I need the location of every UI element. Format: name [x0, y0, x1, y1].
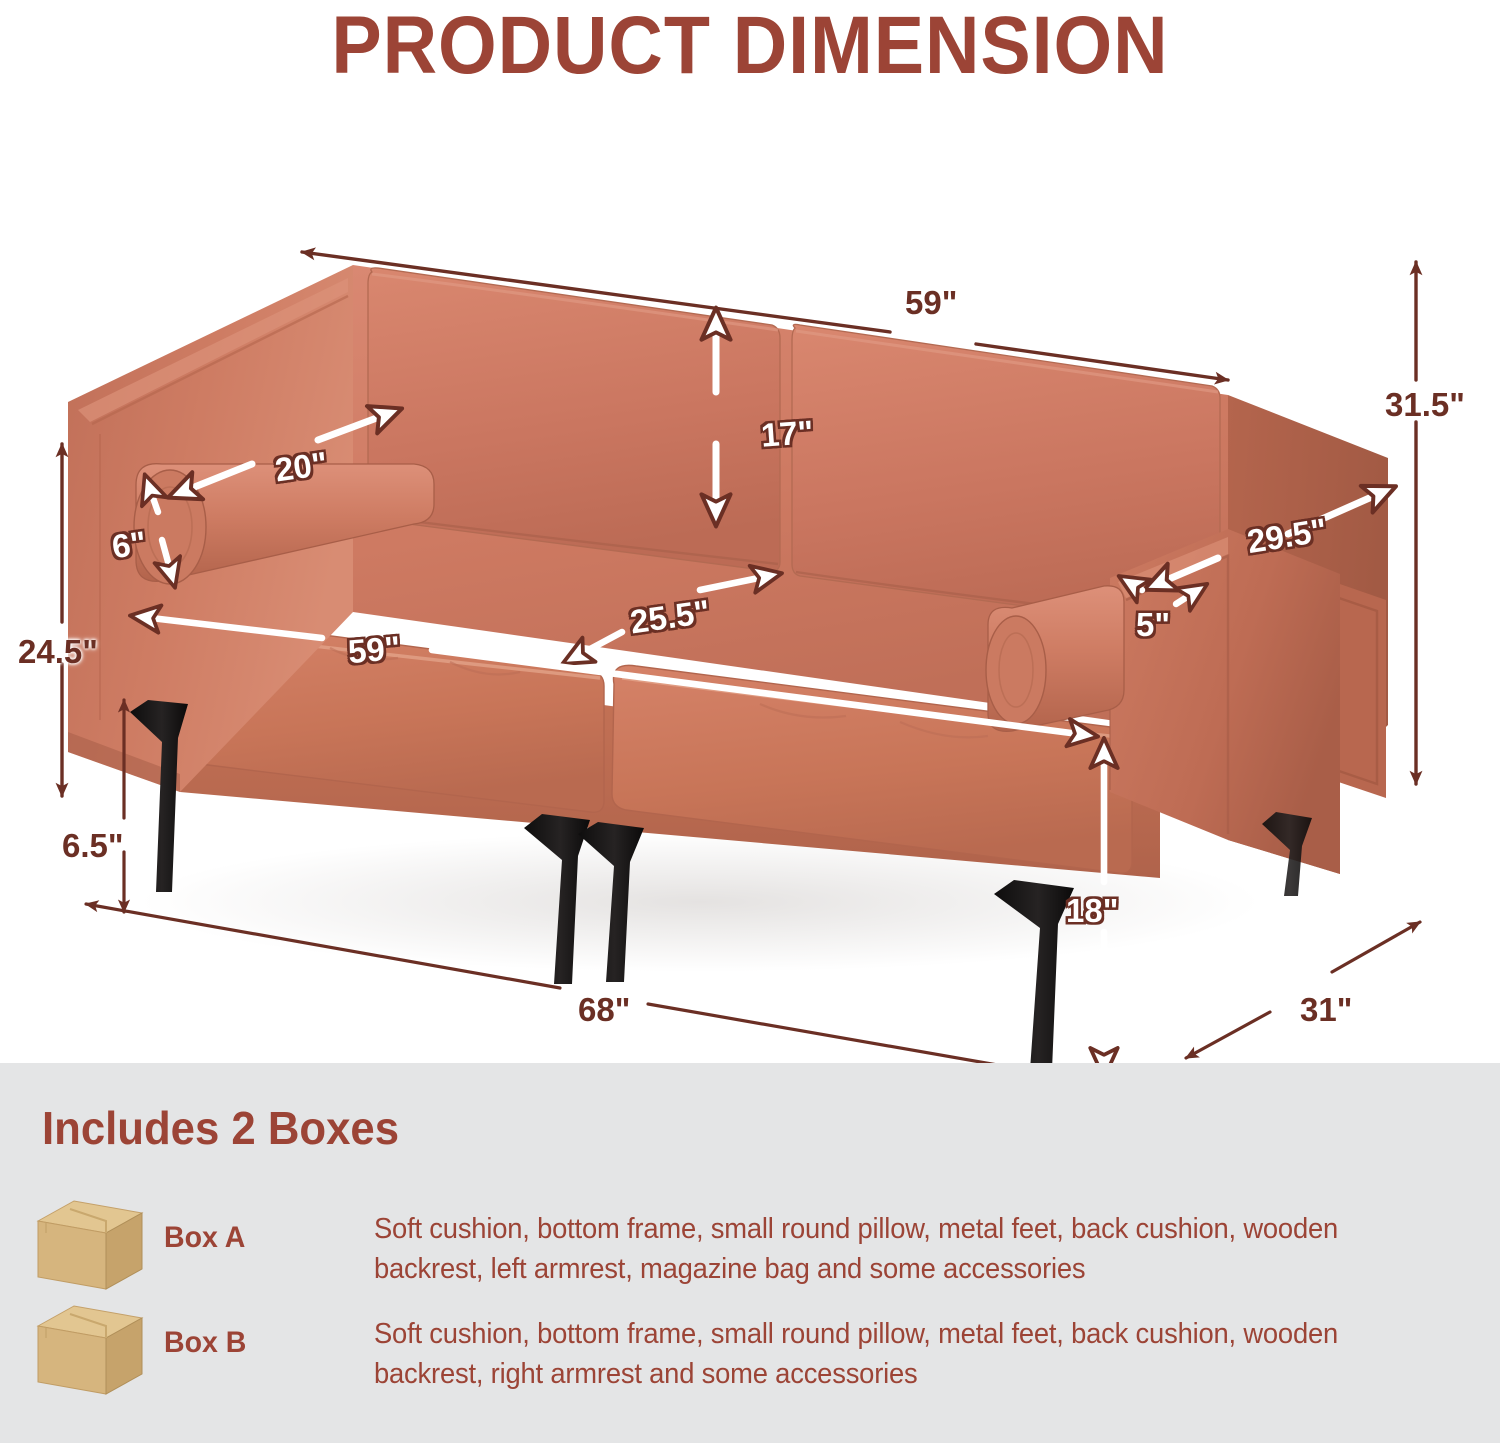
arrow-overall-depth	[1186, 922, 1420, 1058]
product-dimension-page: PRODUCT DIMENSION	[0, 0, 1500, 1443]
product-illustration: 59" 17" 31.5" 20" 6" 29.5" 5" 25.5" 59" …	[0, 92, 1500, 1063]
box-a-icon	[34, 1193, 164, 1293]
right-bolster-pillow	[986, 586, 1124, 732]
box-row-b: Box B Soft cushion, bottom frame, small …	[0, 1298, 1500, 1403]
page-title-bar: PRODUCT DIMENSION	[0, 0, 1500, 92]
box-row-a: Box A Soft cushion, bottom frame, small …	[0, 1193, 1500, 1298]
page-title: PRODUCT DIMENSION	[331, 5, 1168, 87]
includes-heading: Includes 2 Boxes	[42, 1105, 399, 1151]
cardboard-box-icon	[34, 1302, 146, 1398]
box-b-icon	[34, 1298, 164, 1398]
box-b-label: Box B	[164, 1298, 364, 1360]
box-a-description: Soft cushion, bottom frame, small round …	[374, 1193, 1455, 1290]
includes-section: Includes 2 Boxes Box A Soft cushion, bot…	[0, 1063, 1500, 1443]
box-list: Box A Soft cushion, bottom frame, small …	[0, 1193, 1500, 1403]
cardboard-box-icon	[34, 1197, 146, 1293]
box-b-description: Soft cushion, bottom frame, small round …	[374, 1298, 1455, 1395]
box-a-label: Box A	[164, 1193, 364, 1255]
sofa-diagram-svg	[0, 92, 1500, 1063]
